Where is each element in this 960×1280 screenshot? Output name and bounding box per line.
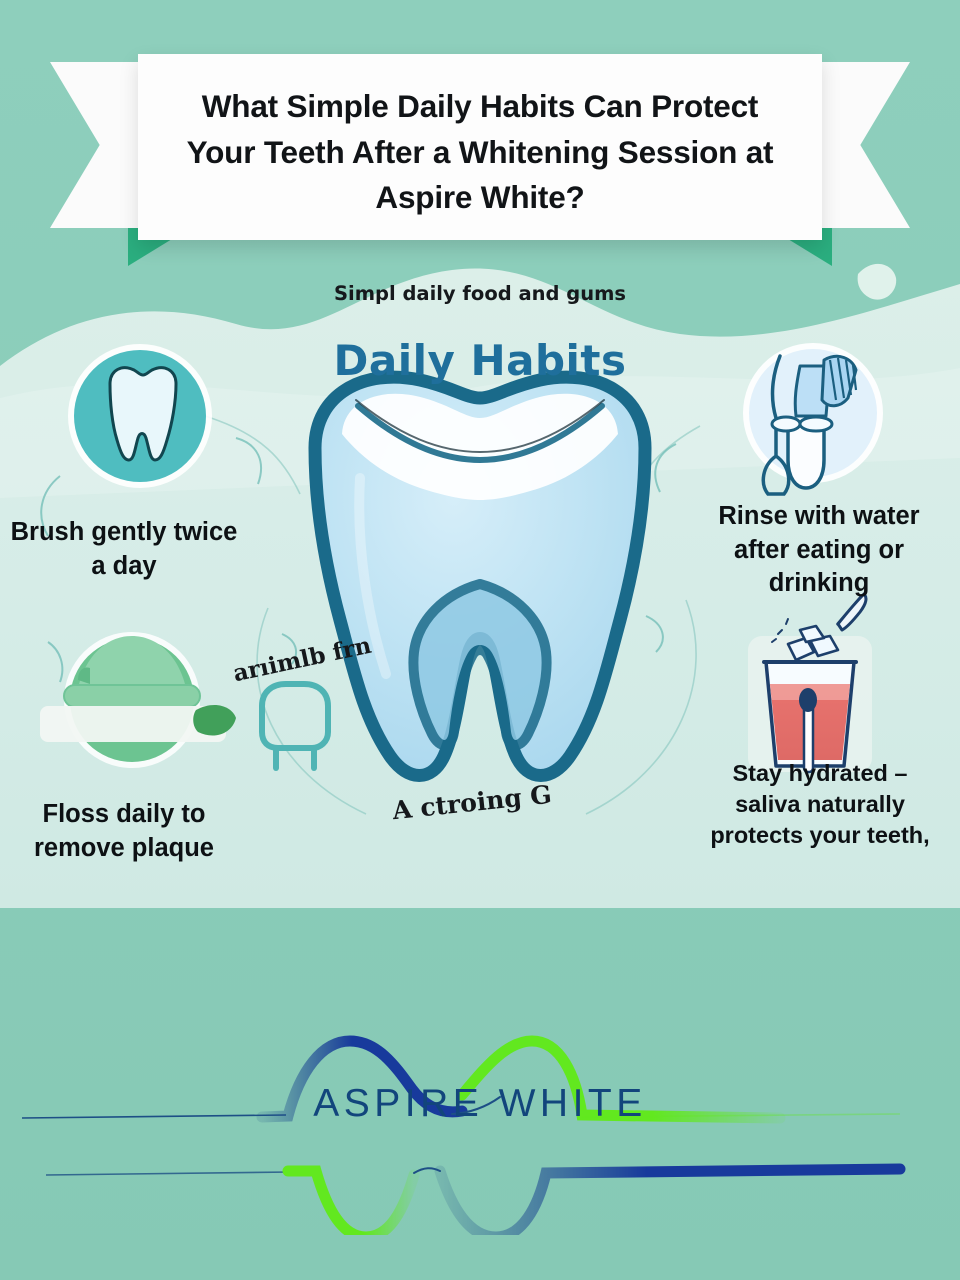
ribbon-body: What Simple Daily Habits Can Protect You… (138, 54, 822, 240)
ribbon-banner: What Simple Daily Habits Can Protect You… (0, 0, 960, 260)
habit-label-hydrate: Stay hydrated – saliva naturally protect… (700, 758, 940, 851)
habit-label-brush: Brush gently twice a day (6, 516, 242, 583)
infographic-page: What Simple Daily Habits Can Protect You… (0, 0, 960, 1280)
illustration-panel: Simpl daily food and gums Daily Habits a… (0, 248, 960, 908)
habit-label-rinse: Rinse with water after eating or drinkin… (694, 500, 944, 601)
illustration-subheading: Simpl daily food and gums (0, 282, 960, 305)
illustration-brand-heading: Daily Habits (0, 336, 960, 385)
logo-wordmark: ASPIRE WHITE (0, 1082, 960, 1126)
habit-label-floss: Floss daily to remove plaque (6, 798, 242, 865)
page-title: What Simple Daily Habits Can Protect You… (138, 54, 822, 221)
